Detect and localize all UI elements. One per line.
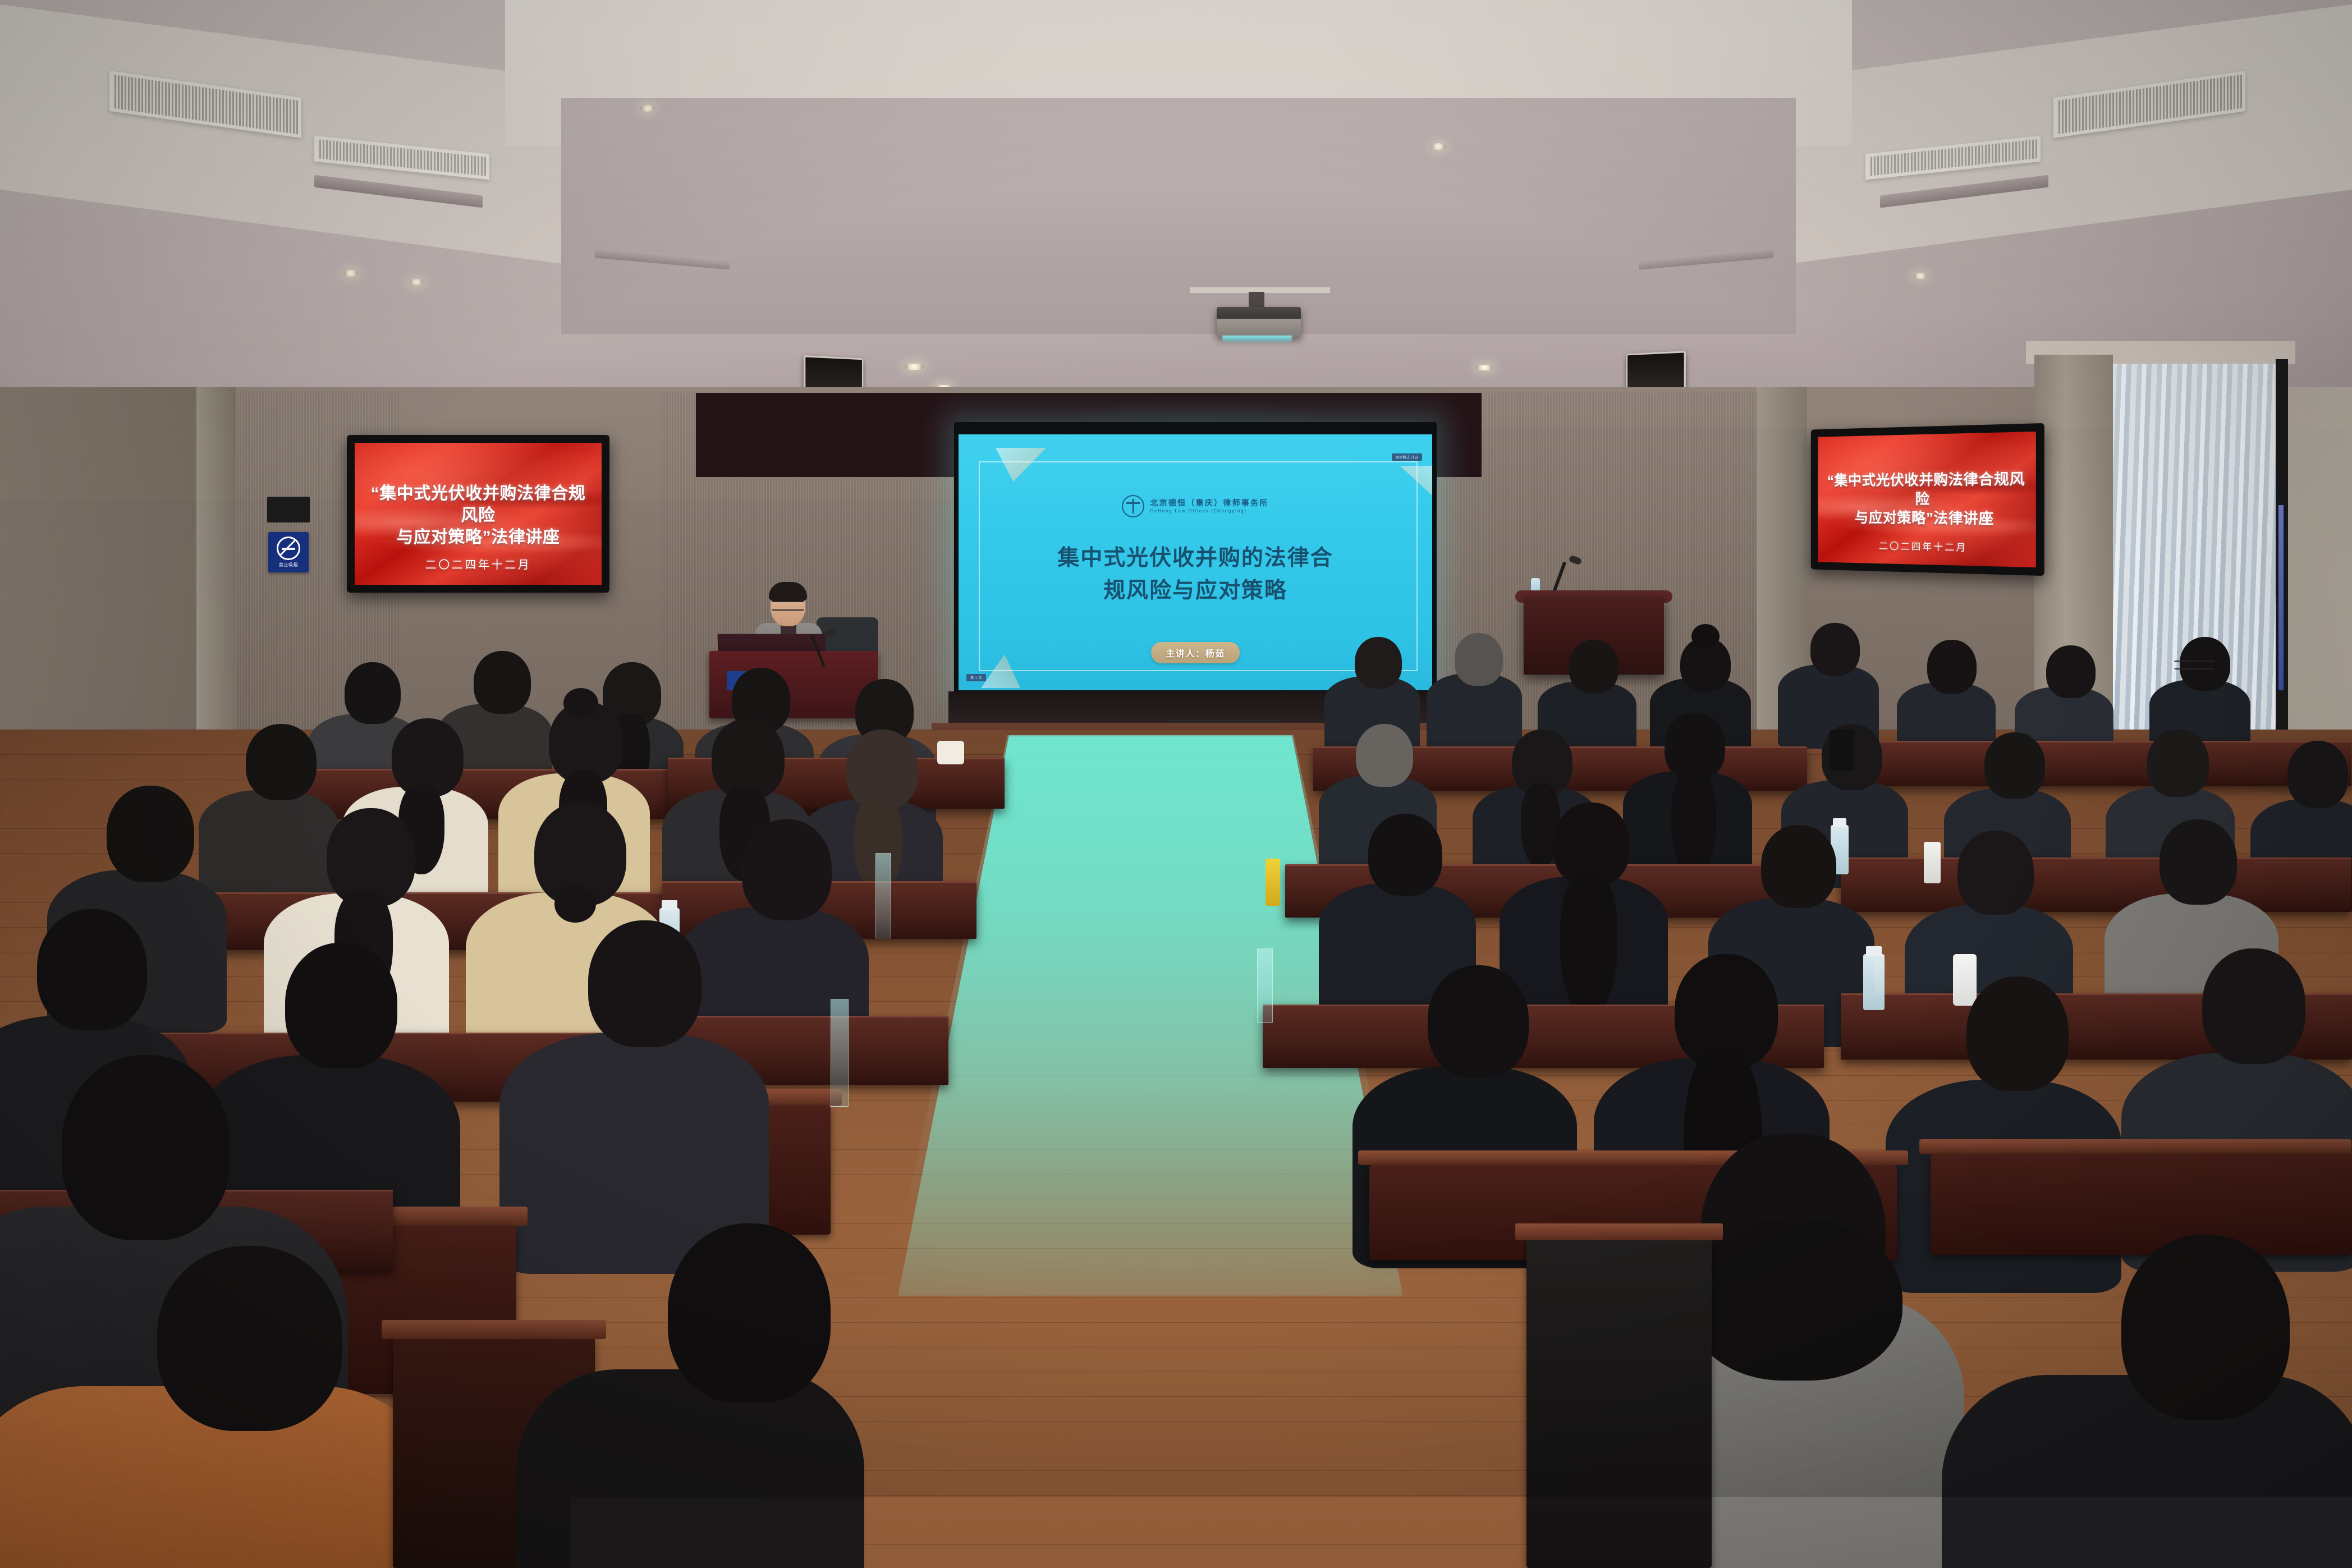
tv-right-title-line1: “集中式光伏收并购法律合规风险	[1826, 470, 2027, 509]
chair-rail	[382, 1320, 606, 1339]
person-head	[107, 786, 194, 882]
water-bottle	[1924, 842, 1941, 883]
tv-right-title: “集中式光伏收并购法律合规风险 与应对策略”法律讲座	[1826, 470, 2027, 529]
audience-desk	[1846, 741, 2351, 786]
slide-title-line1: 集中式光伏收并购的法律合	[959, 542, 1432, 575]
ceiling-recessed-area	[561, 98, 1796, 334]
no-smoking-sign: 禁止吸烟	[268, 532, 309, 572]
tv-display-right: “集中式光伏收并购法律合规风险 与应对策略”法律讲座 二〇二四年十二月	[1811, 423, 2044, 576]
glasses-icon	[2174, 661, 2215, 670]
person-head	[742, 819, 832, 920]
bottle-cap	[1866, 946, 1882, 956]
window-blue-strip	[2278, 505, 2284, 690]
downlight-icon	[343, 270, 358, 277]
person-head	[345, 662, 401, 724]
person-head	[2046, 645, 2096, 698]
conference-hall-scene: “集中式光伏收并购法律合规风险 与应对策略”法律讲座 二〇二四年十二月 “集中式…	[0, 0, 2352, 1568]
person-ponytail	[1671, 769, 1716, 875]
chair-rail	[1515, 1223, 1723, 1240]
person-hair-bun	[554, 886, 596, 923]
chair-back	[1931, 1154, 2352, 1255]
no-smoking-label: 禁止吸烟	[279, 562, 298, 568]
person-head	[1368, 814, 1442, 896]
projector-icon	[1217, 307, 1301, 337]
person-hair-bun	[563, 688, 598, 718]
person-head	[1569, 640, 1619, 694]
person-head	[1927, 640, 1977, 694]
tv-right-screen: “集中式光伏收并购法律合规风险 与应对策略”法律讲座 二〇二四年十二月	[1818, 432, 2035, 567]
person-head	[1810, 623, 1860, 676]
tv-left-title: “集中式光伏收并购法律合规风险 与应对策略”法律讲座	[365, 483, 592, 548]
smartphone	[1830, 730, 1854, 771]
desk-divider-glass	[1257, 948, 1273, 1023]
person-ponytail	[1560, 871, 1617, 1017]
person-head	[1455, 633, 1503, 686]
person-head	[1966, 976, 2069, 1091]
firm-logo: 北京德恒（重庆）律师事务所 DeHeng Law Offices (Chongq…	[959, 495, 1432, 517]
person-head	[62, 1055, 230, 1240]
bottle-cap	[1833, 818, 1846, 827]
tv-left-title-line1: “集中式光伏收并购法律合规风险	[365, 483, 592, 526]
downlight-icon	[1431, 143, 1446, 150]
desk-divider-glass	[831, 999, 849, 1107]
slide-page-text: 第 1 页	[970, 675, 982, 680]
glasses-icon	[772, 601, 804, 611]
tv-left-screen: “集中式光伏收并购法律合规风险 与应对策略”法律讲座 二〇二四年十二月	[355, 443, 602, 585]
bottle-cap	[662, 900, 677, 910]
wall-box	[267, 497, 310, 522]
slide-speaker-badge: 主讲人：杨茹	[1151, 642, 1240, 663]
person-head	[588, 920, 702, 1047]
person-head	[157, 1246, 342, 1431]
downlight-icon	[640, 105, 655, 112]
person-head	[2160, 819, 2237, 905]
slide-page-pill: 第 1 页	[966, 674, 986, 681]
person-head	[37, 909, 147, 1030]
person-bob-hair	[1689, 1218, 1902, 1381]
downlight-icon	[410, 279, 423, 285]
downlight-icon	[905, 364, 924, 370]
no-smoking-icon	[277, 537, 300, 560]
person-head	[2287, 741, 2348, 808]
person-head	[2202, 948, 2305, 1064]
scales-of-justice-icon	[1122, 495, 1144, 517]
person-head	[2121, 1235, 2290, 1420]
paper-cup	[937, 741, 964, 764]
tv-left-title-line2: 与应对策略”法律讲座	[365, 526, 592, 548]
firm-logo-text: 北京德恒（重庆）律师事务所 DeHeng Law Offices (Chongq…	[1150, 498, 1268, 514]
person-head	[1957, 831, 2034, 915]
water-bottle	[1863, 954, 1885, 1010]
audience-desk	[1841, 858, 2351, 912]
person-head	[1428, 965, 1529, 1078]
chair-rail	[1919, 1139, 2351, 1154]
slide-title: 集中式光伏收并购的法律合 规风险与应对策略	[959, 542, 1432, 607]
person-head	[246, 724, 317, 800]
firm-name-cn: 北京德恒（重庆）律师事务所	[1150, 498, 1268, 508]
person-head	[668, 1223, 831, 1403]
person-torso	[1942, 1375, 2352, 1568]
person-head	[2147, 730, 2209, 797]
firm-name-en: DeHeng Law Offices (Chongqing)	[1150, 508, 1268, 514]
person-head	[285, 943, 397, 1069]
person-head	[1761, 825, 1836, 908]
tv-left-stand	[453, 587, 503, 593]
desk-divider-glass	[875, 853, 891, 938]
downlight-icon	[1914, 273, 1927, 279]
slide-mode-text: 演示模式 开启	[1396, 455, 1418, 460]
person-torso	[516, 1369, 864, 1568]
person-head	[1355, 637, 1402, 689]
person-head	[1356, 724, 1413, 787]
hiviz-marker	[1266, 859, 1280, 906]
chair-back	[1526, 1235, 1712, 1568]
slide-title-line2: 规风险与应对策略	[959, 575, 1432, 607]
slide-mode-pill: 演示模式 开启	[1392, 453, 1422, 461]
tv-left-date: 二〇二四年十二月	[355, 556, 602, 572]
tv-right-title-line2: 与应对策略”法律讲座	[1826, 508, 2027, 529]
presider-hair	[769, 582, 807, 601]
person-head	[474, 651, 531, 714]
paper-cup	[1953, 954, 1977, 1006]
downlight-icon	[1476, 365, 1493, 370]
tv-display-left: “集中式光伏收并购法律合规风险 与应对策略”法律讲座 二〇二四年十二月	[347, 435, 609, 593]
person-hair-bun	[1691, 624, 1720, 649]
person-head	[1984, 732, 2045, 799]
